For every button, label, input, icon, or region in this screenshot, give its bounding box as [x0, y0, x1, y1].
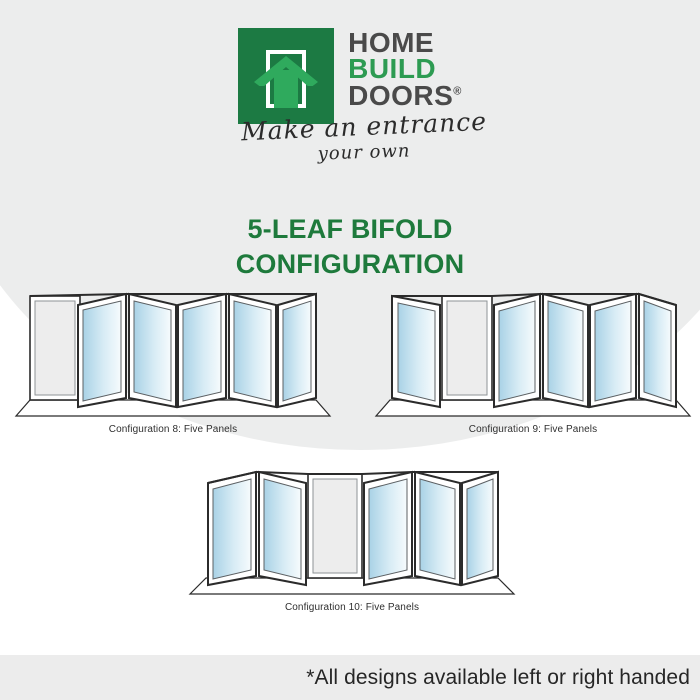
- bifold-door-illustration-10: [182, 466, 522, 601]
- panel-folded-1: [78, 294, 126, 407]
- logo-word-doors-text: DOORS: [348, 80, 453, 111]
- panel-folded-4: [415, 472, 460, 585]
- footer-band: *All designs available left or right han…: [0, 655, 700, 700]
- brand-tagline: Make an entrance your own: [241, 112, 487, 163]
- panel-closed: [30, 296, 80, 400]
- panel-folded-4: [590, 294, 636, 407]
- panel-folded-5: [278, 294, 316, 407]
- diagram-configuration-9: Configuration 9: Five Panels: [368, 288, 698, 435]
- panel-folded-5: [462, 472, 498, 585]
- panel-folded-2: [259, 472, 306, 585]
- home-build-doors-logo-icon: [238, 28, 334, 124]
- bifold-door-illustration-8: [8, 288, 338, 423]
- diagram-caption: Configuration 8: Five Panels: [8, 424, 338, 435]
- page-title-line-2: CONFIGURATION: [0, 247, 700, 282]
- panel-folded-1: [392, 296, 440, 407]
- panel-folded-2: [129, 294, 176, 407]
- panel-folded-4: [229, 294, 276, 407]
- footer-note: *All designs available left or right han…: [306, 666, 690, 690]
- panel-folded-3: [364, 472, 412, 585]
- diagram-configuration-8: Configuration 8: Five Panels: [8, 288, 338, 435]
- logo-wordmark: HOME BUILD DOORS®: [348, 28, 462, 109]
- panel-folded-5: [639, 294, 676, 407]
- page-title-line-1: 5-LEAF BIFOLD: [0, 212, 700, 247]
- panel-folded-3: [543, 294, 588, 407]
- panel-folded-2: [494, 294, 540, 407]
- registered-trademark-icon: ®: [453, 85, 462, 97]
- diagram-configuration-10: Configuration 10: Five Panels: [182, 466, 522, 613]
- logo-word-doors: DOORS®: [348, 83, 462, 109]
- diagram-caption: Configuration 9: Five Panels: [368, 424, 698, 435]
- panel-closed: [442, 296, 492, 400]
- bifold-door-illustration-9: [368, 288, 698, 423]
- diagram-caption: Configuration 10: Five Panels: [182, 602, 522, 613]
- page-title: 5-LEAF BIFOLD CONFIGURATION: [0, 212, 700, 281]
- panel-folded-1: [208, 472, 256, 585]
- panel-closed: [308, 474, 362, 578]
- brand-logo-block: HOME BUILD DOORS® Make an entrance your …: [0, 28, 700, 163]
- panel-folded-3: [178, 294, 226, 407]
- logo-roof-chevron: [252, 52, 320, 86]
